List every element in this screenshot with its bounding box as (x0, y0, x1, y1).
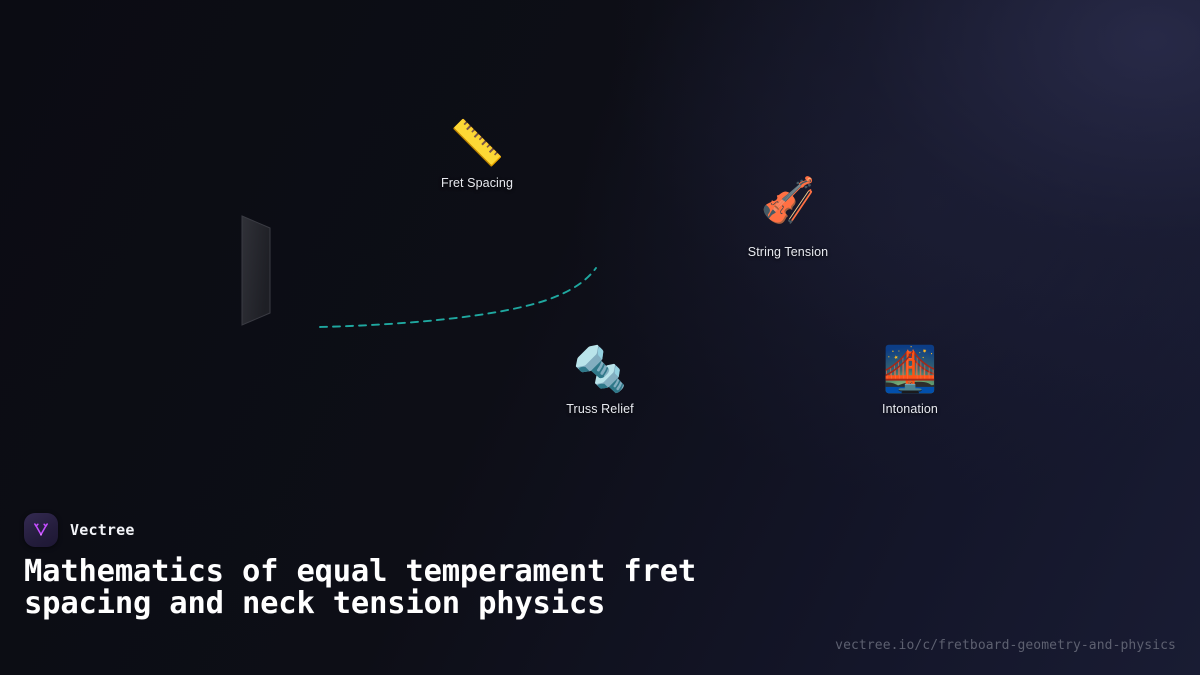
fretboard-diagram-svg (0, 0, 1200, 490)
vectree-glyph-dot (40, 533, 42, 535)
feature-label-intonation: Intonation (882, 402, 938, 416)
feature-node-fret-spacing: 📏 Fret Spacing (397, 118, 557, 190)
fret-wires-group (313, 232, 614, 310)
feature-node-truss-relief: 🔩 Truss Relief (520, 344, 680, 416)
fretboard-illustration: 📏 Fret Spacing 🎻 String Tension 🔩 Truss … (0, 0, 1200, 490)
feature-label-string-tension: String Tension (748, 245, 828, 259)
site-url: vectree.io/c/fretboard-geometry-and-phys… (835, 638, 1176, 653)
truss-relief-curve (320, 268, 596, 327)
brand-name: Vectree (70, 521, 135, 539)
headstock-shape (242, 216, 270, 325)
vectree-glyph (31, 520, 51, 540)
ruler-icon: 📏 (450, 118, 505, 170)
feature-label-truss-relief: Truss Relief (566, 402, 633, 416)
caption-footer: Vectree Mathematics of equal temperament… (0, 490, 1200, 675)
bolt-icon: 🔩 (573, 344, 628, 396)
feature-node-intonation: 🌉 Intonation (830, 344, 990, 416)
vectree-logo-icon (24, 513, 58, 547)
feature-node-string-tension: 🎻 String Tension (708, 175, 868, 259)
page-title: Mathematics of equal temperament fret sp… (24, 556, 784, 620)
brand-row[interactable]: Vectree (24, 513, 135, 547)
social-card-canvas: 📏 Fret Spacing 🎻 String Tension 🔩 Truss … (0, 0, 1200, 675)
feature-label-fret-spacing: Fret Spacing (441, 176, 513, 190)
bridge-at-night-icon: 🌉 (883, 344, 938, 396)
violin-icon: 🎻 (761, 175, 816, 227)
